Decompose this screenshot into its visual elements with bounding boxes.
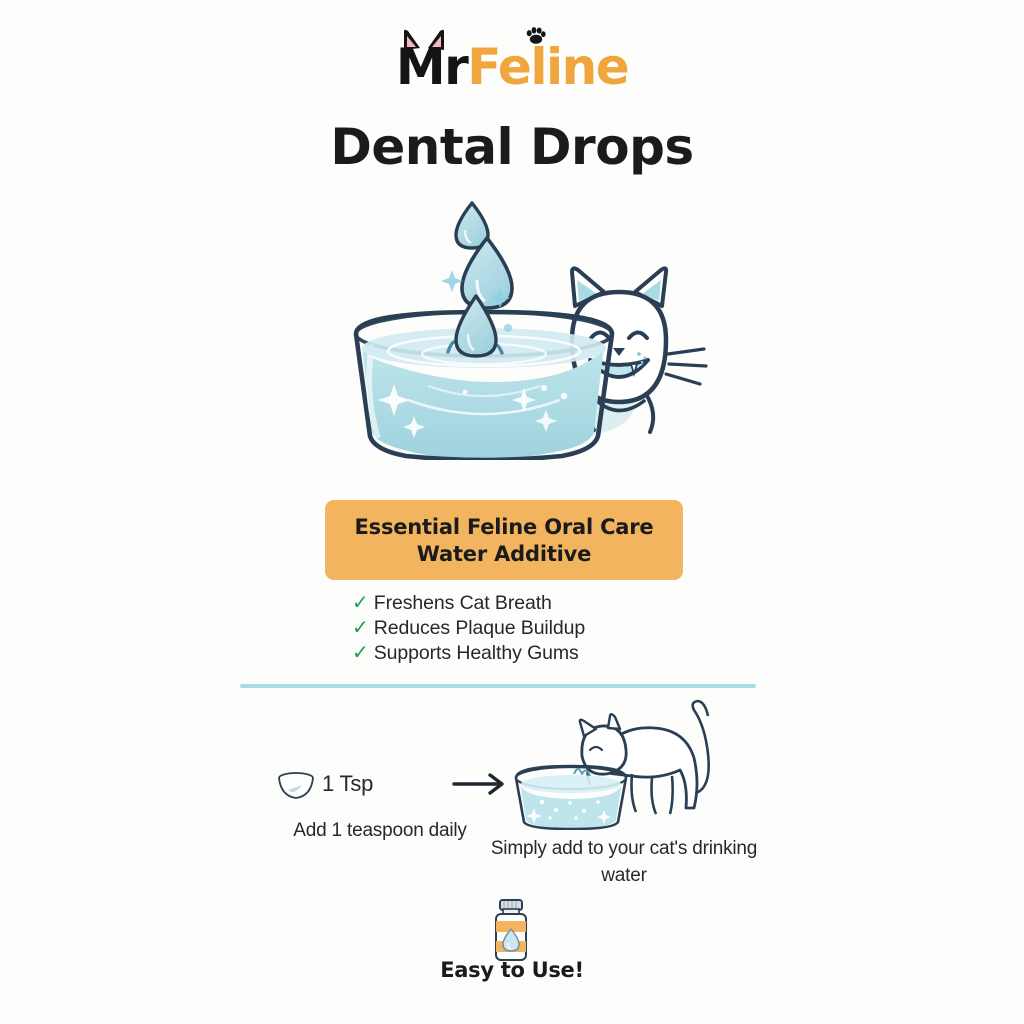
brand-name-accent: Feline <box>467 38 628 96</box>
brand-logo-text: MrFeline <box>396 42 628 92</box>
dental-drops-bottle-icon <box>482 898 540 964</box>
list-item: ✓ Freshens Cat Breath <box>352 592 752 617</box>
banner-line-1: Essential Feline Oral Care <box>355 514 654 541</box>
check-icon: ✓ <box>352 642 369 662</box>
paw-print-icon <box>526 27 546 44</box>
page-title: Dental Drops <box>0 118 1024 176</box>
footer-label: Easy to Use! <box>0 958 1024 982</box>
brand-logo: MrFeline <box>0 32 1024 102</box>
list-item: ✓ Reduces Plaque Buildup <box>352 617 752 642</box>
list-item: ✓ Supports Healthy Gums <box>352 642 752 667</box>
benefit-label: Supports Healthy Gums <box>374 642 579 665</box>
product-infographic-page: MrFeline Dental Drops <box>0 0 1024 1024</box>
benefits-list: ✓ Freshens Cat Breath ✓ Reduces Plaque B… <box>352 592 752 667</box>
check-icon: ✓ <box>352 592 369 612</box>
dose-label: 1 Tsp <box>322 771 373 797</box>
benefit-label: Freshens Cat Breath <box>374 592 552 615</box>
right-arrow-icon <box>452 770 512 798</box>
benefit-label: Reduces Plaque Buildup <box>374 617 585 640</box>
check-icon: ✓ <box>352 617 369 637</box>
usage-caption-right: Simply add to your cat's drinking water <box>476 836 772 889</box>
section-divider <box>240 684 756 688</box>
cat-ears-icon <box>401 28 457 50</box>
banner-line-2: Water Additive <box>417 541 591 568</box>
hero-illustration <box>332 188 724 460</box>
cat-drinking-from-bowl-icon <box>508 698 740 830</box>
product-tagline-banner: Essential Feline Oral Care Water Additiv… <box>325 500 683 580</box>
measuring-bowl-icon <box>276 770 316 800</box>
